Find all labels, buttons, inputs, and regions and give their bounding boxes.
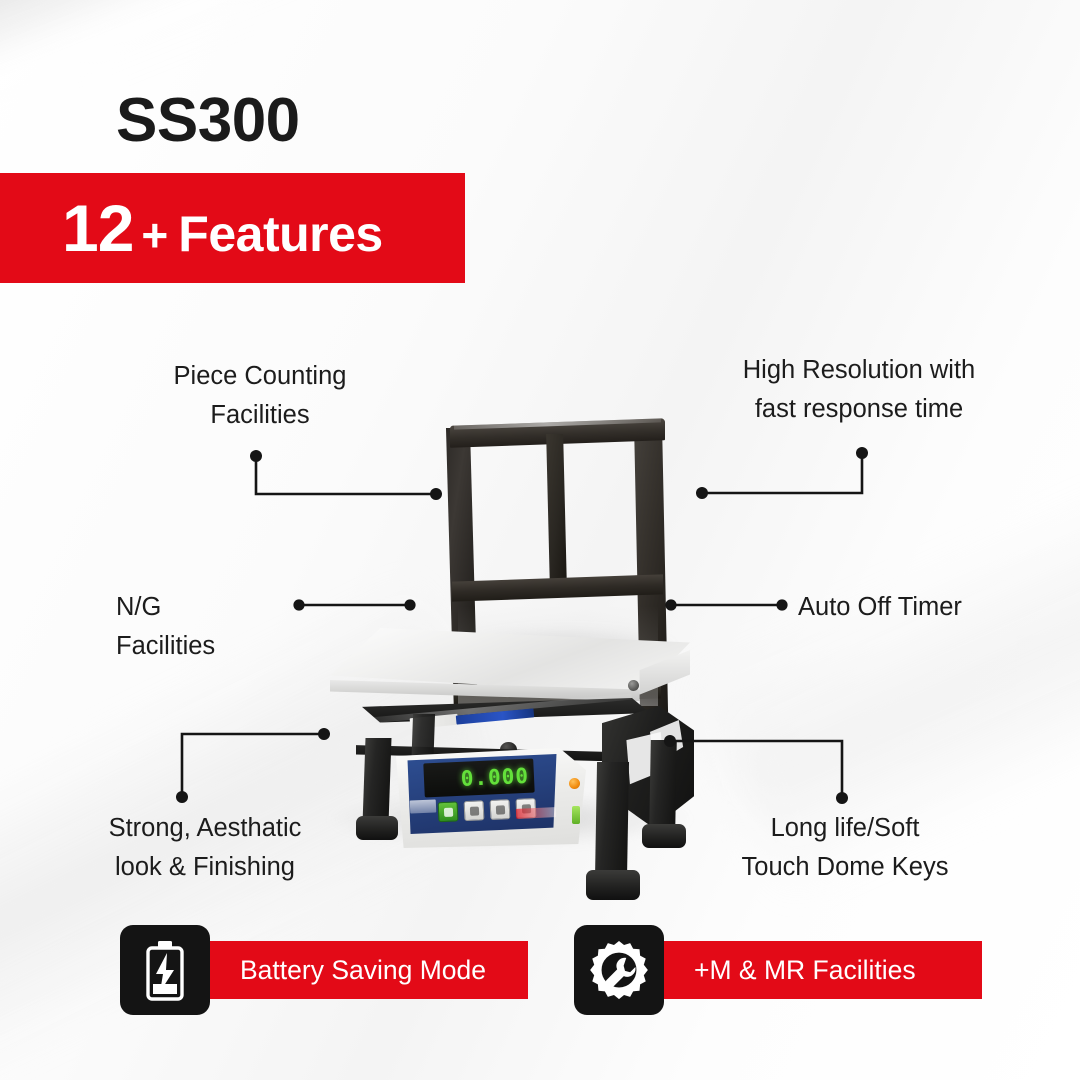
page-title: SS300 <box>116 90 300 152</box>
feature-badge-row: Battery Saving Mode +M & MR Facilities <box>0 925 1080 1020</box>
callout-dome-keys: Long life/Soft Touch Dome Keys <box>720 809 970 887</box>
backstop-center-mullion <box>546 434 567 586</box>
features-word: Features <box>178 209 382 259</box>
leg-front-left <box>362 738 391 824</box>
leader-line-piece-counting <box>250 448 450 502</box>
power-led-orange <box>569 778 580 789</box>
features-plus-sign: + <box>141 212 168 258</box>
features-banner-content: 12 + Features <box>62 195 383 261</box>
leader-line-high-resolution <box>694 443 884 501</box>
callout-high-resolution: High Resolution with fast response time <box>710 351 1008 429</box>
keypad-key-3[interactable] <box>490 799 511 820</box>
leader-line-ng-facilities <box>292 596 422 614</box>
keypad-key-1[interactable] <box>438 801 459 822</box>
badge-m-mr[interactable]: +M & MR Facilities <box>574 925 982 1015</box>
leader-line-auto-off-timer <box>664 596 794 614</box>
badge-battery-saving[interactable]: Battery Saving Mode <box>120 925 528 1015</box>
backstop-cross-rail <box>452 574 663 601</box>
callout-ng-facilities: N/G Facilities <box>116 588 296 666</box>
keypad-key-2[interactable] <box>464 800 485 821</box>
foot-front-right <box>586 870 640 900</box>
weight-display: 0.000 <box>423 759 534 798</box>
foot-front-left <box>356 816 398 840</box>
badge-battery-bar: Battery Saving Mode <box>202 941 528 999</box>
battery-bolt-icon <box>120 925 210 1015</box>
scale-indicator-head: 0.000 <box>396 748 586 856</box>
leg-front-right <box>595 762 629 880</box>
features-count: 12 <box>62 195 133 261</box>
leader-line-dome-keys <box>662 732 858 810</box>
indicator-logo <box>516 807 556 819</box>
foot-back-right <box>642 824 686 848</box>
weight-display-value: 0.000 <box>460 765 529 789</box>
callout-piece-counting: Piece Counting Facilities <box>140 357 380 435</box>
badge-battery-label: Battery Saving Mode <box>240 955 486 986</box>
product-feature-infographic: SS300 12 + Features <box>0 0 1080 1080</box>
indicator-brand-mark <box>410 799 437 813</box>
badge-m-mr-bar: +M & MR Facilities <box>656 941 982 999</box>
leader-line-strong-look <box>174 725 338 807</box>
gear-wrench-icon <box>574 925 664 1015</box>
callout-auto-off-timer: Auto Off Timer <box>798 588 1028 627</box>
callout-strong-look: Strong, Aesthatic look & Finishing <box>60 809 350 887</box>
platform-screw <box>628 680 639 691</box>
status-led-green <box>572 806 580 824</box>
features-banner: 12 + Features <box>0 173 465 283</box>
badge-m-mr-label: +M & MR Facilities <box>694 955 916 986</box>
